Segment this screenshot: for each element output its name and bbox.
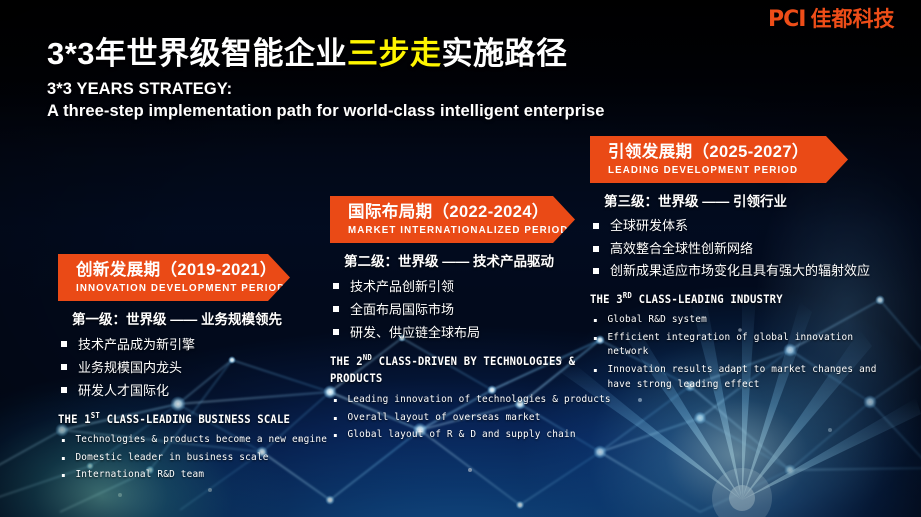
list-item: Innovation results adapt to market chang… — [590, 363, 881, 392]
list-item: 全面布局国际市场 — [330, 301, 630, 318]
list-item: Global layout of R & D and supply chain — [330, 428, 621, 443]
stage-card-international: 国际布局期（2022-2024） MARKET INTERNATIONALIZE… — [330, 196, 630, 446]
stage-3-subheading-ordinal: RD — [623, 291, 632, 300]
list-item: 高效整合全球性创新网络 — [590, 241, 890, 258]
list-item: 技术产品创新引领 — [330, 278, 630, 295]
stage-2-english-list: Leading innovation of technologies & pro… — [330, 393, 630, 443]
stage-1-english-list: Technologies & products become a new eng… — [58, 433, 358, 483]
list-item: 研发、供应链全球布局 — [330, 324, 630, 341]
list-item: 创新成果适应市场变化且具有强大的辐射效应 — [590, 263, 890, 280]
logo-company-name: 佳都科技 — [810, 9, 894, 30]
stage-banner-1-title-cn: 创新发展期（2019-2021） — [76, 261, 256, 280]
list-item: Efficient integration of global innovati… — [590, 331, 881, 360]
stage-card-3-body: 第三级：世界级 —— 引领行业 全球研发体系 高效整合全球性创新网络 创新成果适… — [590, 183, 890, 392]
stage-3-bullet-list: 全球研发体系 高效整合全球性创新网络 创新成果适应市场变化且具有强大的辐射效应 — [590, 218, 890, 280]
page-subtitle-line2: A three-step implementation path for wor… — [47, 101, 767, 123]
page-title-cn: 3*3年世界级智能企业三步走实施路径 — [47, 36, 767, 73]
stage-card-1-body: 第一级：世界级 —— 业务规模领先 技术产品成为新引擎 业务规模国内龙头 研发人… — [58, 301, 358, 483]
list-item: 技术产品成为新引擎 — [58, 336, 358, 353]
stage-3-subheading-en: THE 3RD CLASS-LEADING INDUSTRY — [590, 290, 866, 309]
stage-banner-2: 国际布局期（2022-2024） MARKET INTERNATIONALIZE… — [330, 196, 575, 243]
list-item: 研发人才国际化 — [58, 382, 358, 399]
stage-3-english-list: Global R&D system Efficient integration … — [590, 313, 890, 392]
company-logo: PCI 佳都科技 — [768, 6, 894, 33]
stage-2-subheading-en: THE 2ND CLASS-DRIVEN BY TECHNOLOGIES & P… — [330, 352, 606, 388]
page-subtitle-line1: 3*3 YEARS STRATEGY: — [47, 79, 767, 101]
stage-banner-1-title-en: INNOVATION DEVELOPMENT PERIOD — [76, 282, 243, 295]
stage-1-bullet-list: 技术产品成为新引擎 业务规模国内龙头 研发人才国际化 — [58, 336, 358, 400]
stage-card-innovation: 创新发展期（2019-2021） INNOVATION DEVELOPMENT … — [58, 254, 358, 486]
list-item: 全球研发体系 — [590, 218, 890, 235]
stage-banner-3-title-cn: 引领发展期（2025-2027） — [608, 143, 814, 162]
logo-mark-pci: PCI — [768, 9, 805, 31]
stage-3-subheading-pre: THE 3 — [590, 292, 623, 306]
slide-canvas: PCI 佳都科技 3*3年世界级智能企业三步走实施路径 3*3 YEARS ST… — [0, 0, 921, 517]
stage-banner-1: 创新发展期（2019-2021） INNOVATION DEVELOPMENT … — [58, 254, 290, 301]
stage-2-subheading-pre: THE 2 — [330, 354, 363, 368]
stage-2-bullet-list: 技术产品创新引领 全面布局国际市场 研发、供应链全球布局 — [330, 278, 630, 342]
list-item: Technologies & products become a new eng… — [58, 433, 349, 448]
stage-1-subheading-pre: THE 1 — [58, 412, 91, 426]
page-subtitle-en: 3*3 YEARS STRATEGY: A three-step impleme… — [47, 79, 767, 123]
stage-card-2-body: 第二级：世界级 —— 技术产品驱动 技术产品创新引领 全面布局国际市场 研发、供… — [330, 243, 630, 443]
stage-2-level-label: 第二级：世界级 —— 技术产品驱动 — [344, 254, 630, 271]
stage-2-subheading-ordinal: ND — [363, 353, 372, 362]
list-item: Global R&D system — [590, 313, 881, 328]
list-item: 业务规模国内龙头 — [58, 359, 358, 376]
page-title-cn-post: 实施路径 — [442, 36, 568, 71]
stage-1-level-label: 第一级：世界级 —— 业务规模领先 — [72, 312, 358, 329]
stage-banner-3: 引领发展期（2025-2027） LEADING DEVELOPMENT PER… — [590, 136, 848, 183]
stage-1-subheading-en: THE 1ST CLASS-LEADING BUSINESS SCALE — [58, 410, 334, 429]
list-item: Overall layout of overseas market — [330, 411, 621, 426]
stage-3-level-label: 第三级：世界级 —— 引领行业 — [604, 194, 890, 211]
stage-card-leading: 引领发展期（2025-2027） LEADING DEVELOPMENT PER… — [590, 136, 890, 395]
stage-banner-2-title-en: MARKET INTERNATIONALIZED PERIOD — [348, 224, 527, 237]
list-item: Domestic leader in business scale — [58, 451, 349, 466]
stage-banner-2-title-cn: 国际布局期（2022-2024） — [348, 203, 541, 222]
stage-1-subheading-post: CLASS-LEADING BUSINESS SCALE — [100, 412, 290, 426]
page-title-cn-pre: 3*3年世界级智能企业 — [47, 36, 347, 71]
list-item: Leading innovation of technologies & pro… — [330, 393, 621, 408]
slide-header: 3*3年世界级智能企业三步走实施路径 3*3 YEARS STRATEGY: A… — [47, 36, 767, 122]
page-title-cn-highlight: 三步走 — [347, 36, 442, 71]
stage-banner-3-title-en: LEADING DEVELOPMENT PERIOD — [608, 164, 800, 177]
list-item: International R&D team — [58, 468, 349, 483]
stage-1-subheading-ordinal: ST — [91, 411, 100, 420]
stage-3-subheading-post: CLASS-LEADING INDUSTRY — [632, 292, 783, 306]
